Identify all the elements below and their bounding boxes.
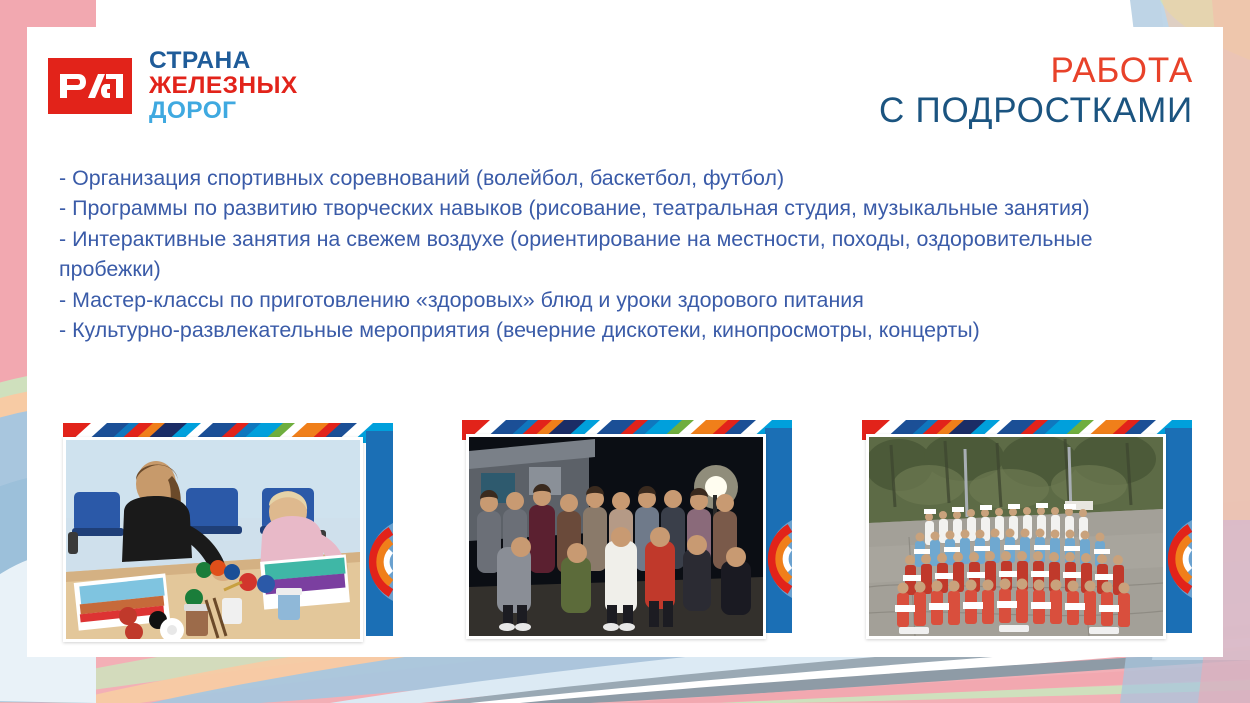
- logo-line-2: ЖЕЛЕЗНЫХ: [149, 73, 298, 98]
- art-class-photo-content: [66, 440, 360, 639]
- bullet-line-5: - Культурно-развлекательные мероприятия …: [59, 315, 1169, 345]
- title-line-2: С ПОДРОСТКАМИ: [879, 93, 1193, 129]
- photo-aerial-group-image: [866, 434, 1166, 639]
- photo-night-group-image: [466, 434, 766, 639]
- photo-art-class: [63, 423, 393, 645]
- rzd-logo-mark-icon: [48, 58, 132, 114]
- body-text-block: - Организация спортивных соревнований (в…: [59, 163, 1169, 345]
- slide-title: РАБОТА С ПОДРОСТКАМИ: [879, 53, 1193, 128]
- photo-art-class-image: [63, 437, 363, 642]
- logo-line-3: ДОРОГ: [149, 98, 298, 123]
- rzd-monogram-icon: [48, 58, 132, 114]
- rzd-logo: СТРАНА ЖЕЛЕЗНЫХ ДОРОГ: [48, 48, 298, 123]
- bullet-line-2: - Программы по развитию творческих навык…: [59, 193, 1169, 223]
- rzd-logo-wordmark: СТРАНА ЖЕЛЕЗНЫХ ДОРОГ: [149, 48, 298, 123]
- slide: СТРАНА ЖЕЛЕЗНЫХ ДОРОГ РАБОТА С ПОДРОСТКА…: [0, 0, 1250, 703]
- logo-line-1: СТРАНА: [149, 48, 298, 73]
- bullet-line-3: - Интерактивные занятия на свежем воздух…: [59, 224, 1169, 285]
- photo-night-group: [462, 420, 792, 642]
- aerial-group-photo-content: [869, 437, 1163, 636]
- bullet-line-1: - Организация спортивных соревнований (в…: [59, 163, 1169, 193]
- bullet-line-4: - Мастер-классы по приготовлению «здоров…: [59, 285, 1169, 315]
- photo-aerial-group: [862, 420, 1192, 642]
- title-line-1: РАБОТА: [879, 53, 1193, 89]
- night-group-photo-content: [469, 437, 763, 636]
